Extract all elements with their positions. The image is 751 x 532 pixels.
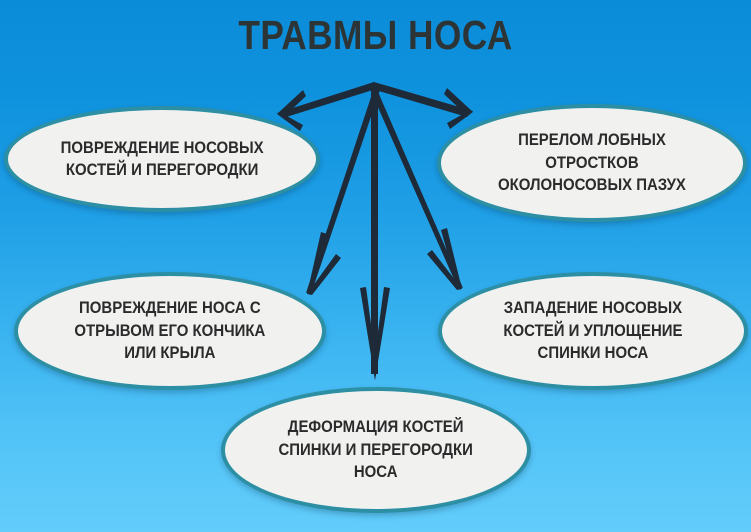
arrow-to-middle-left xyxy=(306,85,381,295)
diagram-node-middle-left[interactable]: ПОВРЕЖДЕНИЕ НОСА С ОТРЫВОМ ЕГО КОНЧИКА И… xyxy=(14,272,326,390)
diagram-node-top-left[interactable]: ПОВРЕЖДЕНИЕ НОСОВЫХ КОСТЕЙ И ПЕРЕГОРОДКИ xyxy=(4,106,320,212)
node-label: ДЕФОРМАЦИЯ КОСТЕЙ СПИНКИ И ПЕРЕГОРОДКИ Н… xyxy=(252,416,500,483)
arrow-to-top-left xyxy=(277,82,376,131)
node-label: ЗАПАДЕНИЕ НОСОВЫХ КОСТЕЙ И УПЛОЩЕНИЕ СПИ… xyxy=(477,297,709,364)
diagram-node-middle-right[interactable]: ЗАПАДЕНИЕ НОСОВЫХ КОСТЕЙ И УПЛОЩЕНИЕ СПИ… xyxy=(438,272,748,390)
diagram-node-bottom-center[interactable]: ДЕФОРМАЦИЯ КОСТЕЙ СПИНКИ И ПЕРЕГОРОДКИ Н… xyxy=(221,387,531,513)
node-label: ПЕРЕЛОМ ЛОБНЫХ ОТРОСТКОВ ОКОЛОНОСОВЫХ ПА… xyxy=(471,129,712,196)
diagram-canvas: ТРАВМЫ НОСА xyxy=(0,0,751,532)
node-label: ПОВРЕЖДЕНИЕ НОСА С ОТРЫВОМ ЕГО КОНЧИКА И… xyxy=(48,297,292,364)
arrow-to-middle-right xyxy=(369,85,463,290)
diagram-node-top-right[interactable]: ПЕРЕЛОМ ЛОБНЫХ ОТРОСТКОВ ОКОЛОНОСОВЫХ ПА… xyxy=(437,104,747,222)
node-label: ПОВРЕЖДЕНИЕ НОСОВЫХ КОСТЕЙ И ПЕРЕГОРОДКИ xyxy=(33,137,290,182)
